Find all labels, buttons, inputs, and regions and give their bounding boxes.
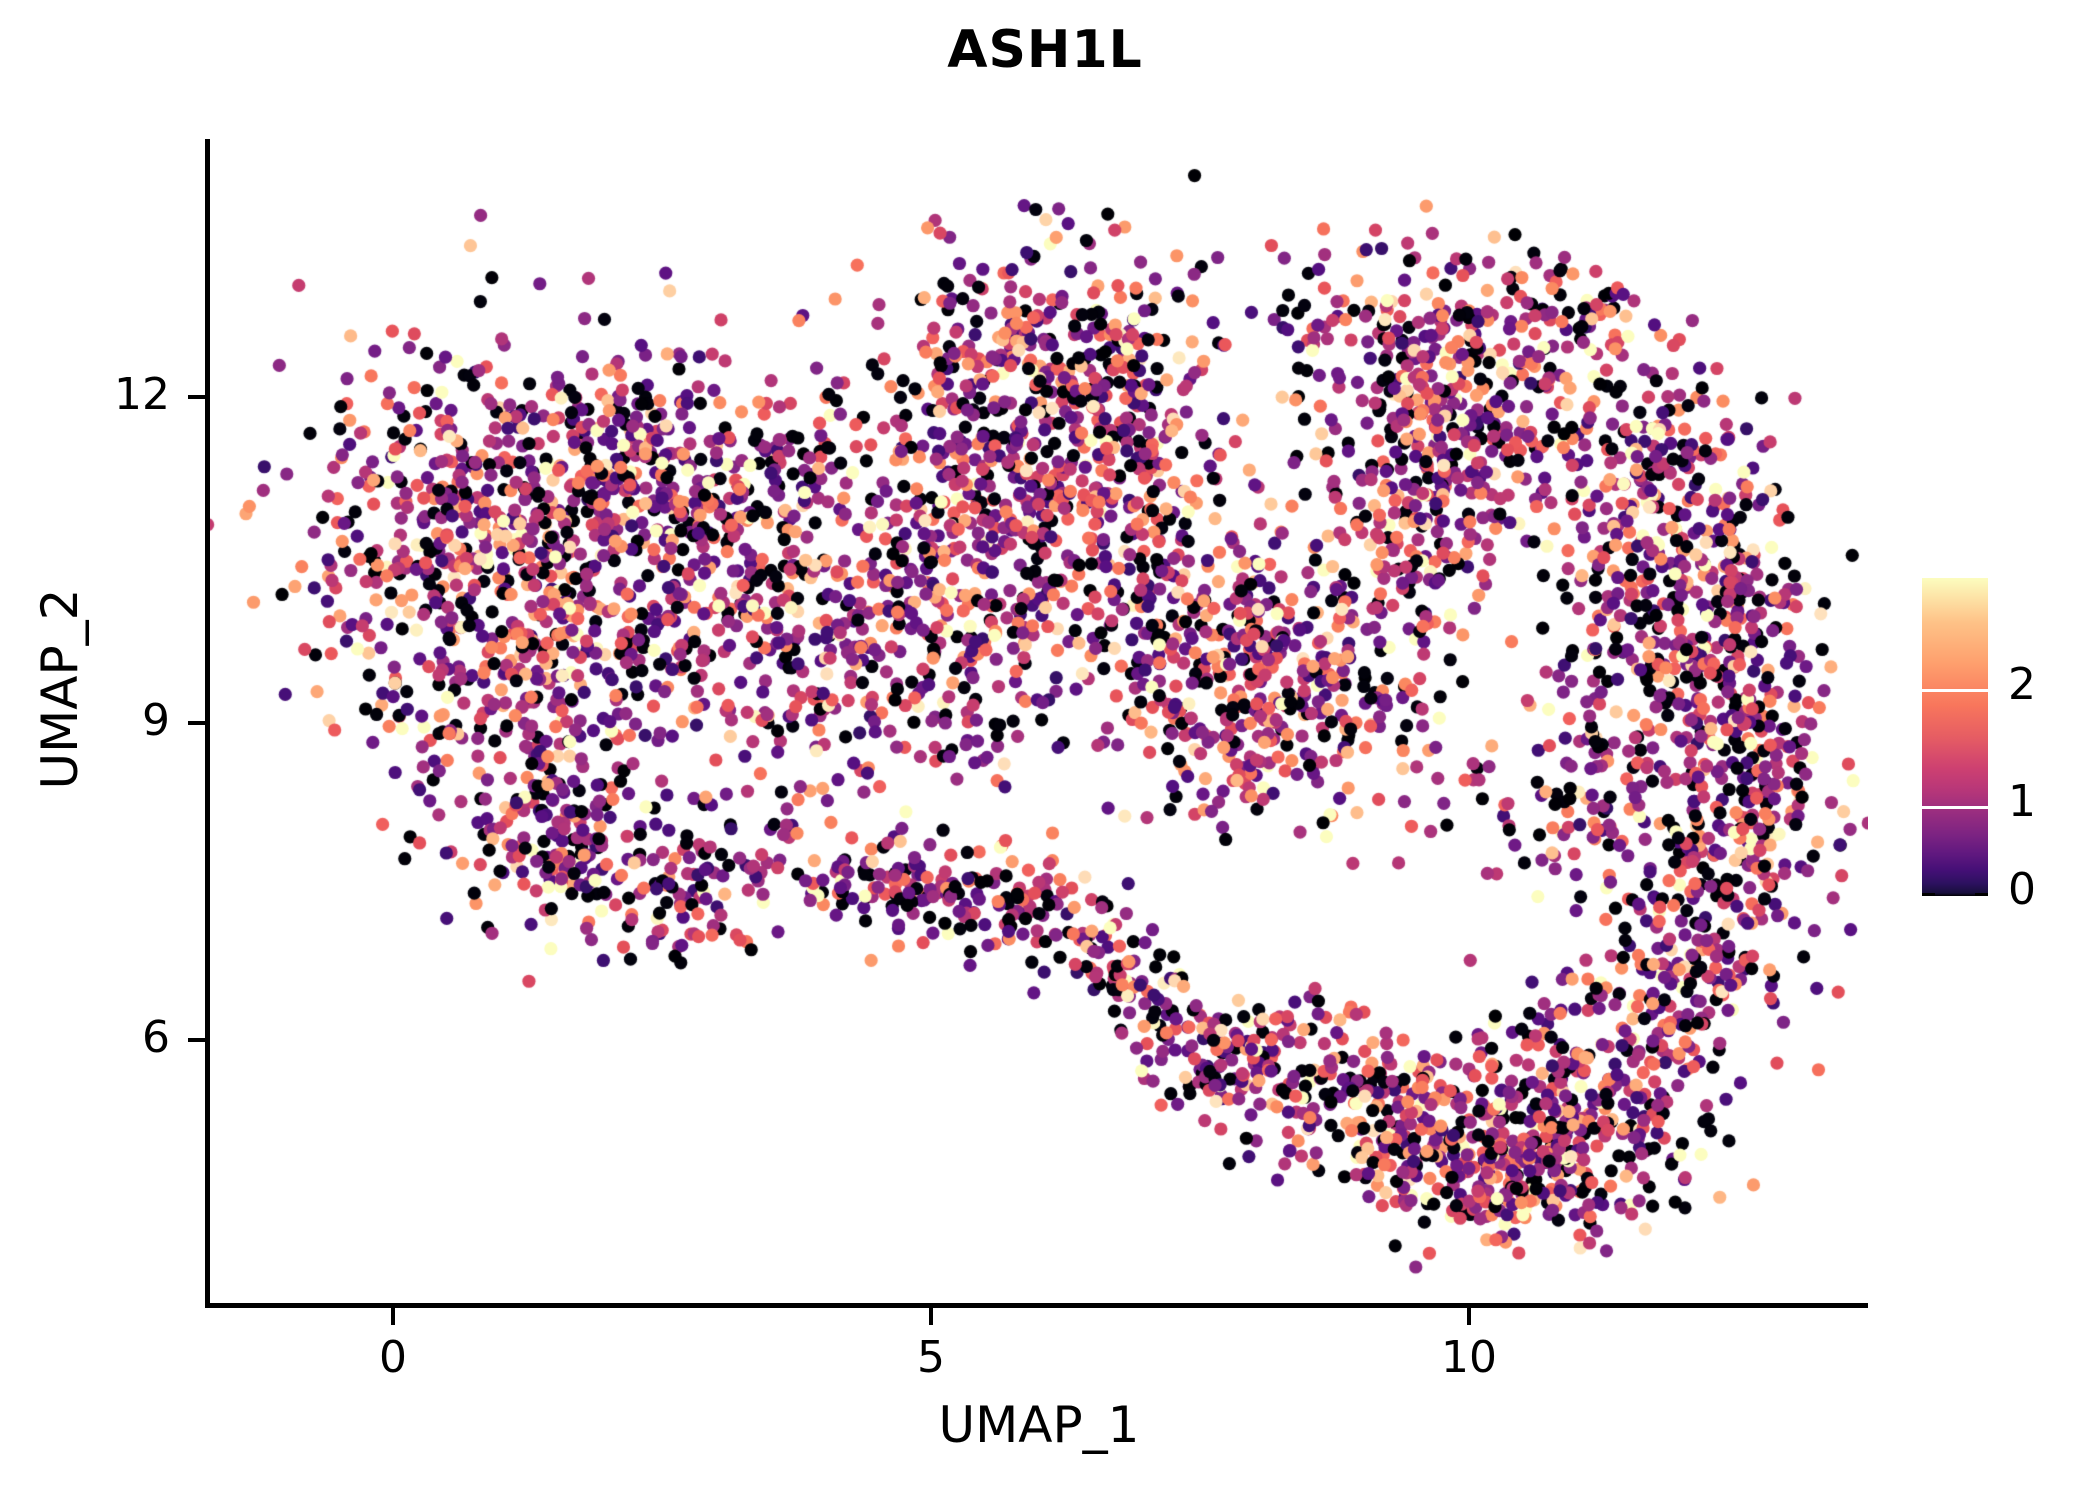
x-axis-label: UMAP_1 [210, 1396, 1868, 1454]
colorbar[interactable]: 2 1 0 [1922, 578, 1988, 896]
x-tick-mark-5 [929, 1308, 933, 1325]
colorbar-tick-0-right [1975, 893, 1988, 896]
colorbar-label-1: 1 [2008, 780, 2036, 824]
x-tick-label-0: 0 [323, 1332, 463, 1383]
page-title: ASH1L [0, 20, 2090, 80]
y-axis-label: UMAP_2 [31, 339, 89, 1039]
x-tick-label-5: 5 [861, 1332, 1001, 1383]
figure-canvas: ASH1L 0 5 10 12 9 6 UMAP_1 UMAP_2 2 1 0 [0, 0, 2100, 1500]
y-tick-mark-12 [188, 395, 205, 399]
colorbar-tick-0-left [1922, 893, 1935, 896]
y-tick-mark-9 [188, 721, 205, 725]
colorbar-label-0: 0 [2008, 868, 2036, 912]
y-tick-mark-6 [188, 1038, 205, 1042]
y-axis-spine [205, 139, 210, 1308]
x-tick-mark-10 [1467, 1308, 1471, 1325]
x-tick-mark-0 [391, 1308, 395, 1325]
x-axis-spine [205, 1303, 1868, 1308]
scatter-plot[interactable] [210, 139, 1868, 1306]
colorbar-gradient [1922, 578, 1988, 896]
x-tick-label-10: 10 [1399, 1332, 1539, 1383]
plot-axes-area[interactable] [210, 139, 1868, 1306]
colorbar-label-2: 2 [2008, 663, 2036, 707]
